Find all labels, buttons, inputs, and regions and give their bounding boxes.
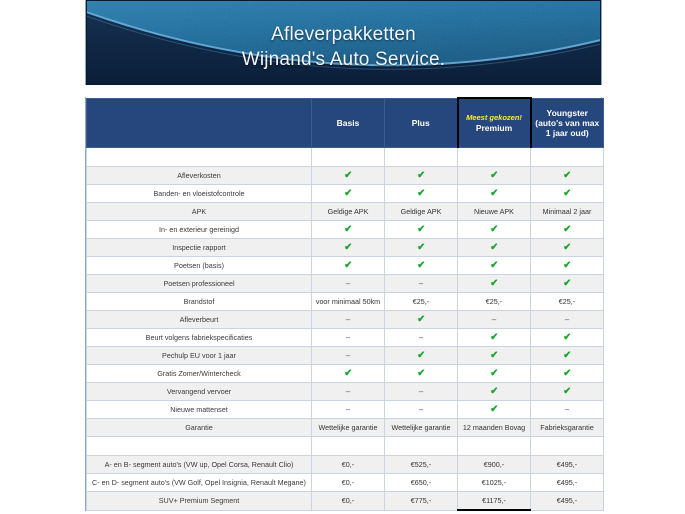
header-cell-youngster[interactable]: Youngster (auto's van max 1 jaar oud) — [531, 98, 604, 148]
row-cell: – — [312, 275, 385, 293]
check-icon: ✔ — [344, 189, 352, 199]
row-cell: €650,- — [385, 474, 458, 492]
cell-value: €1025,- — [482, 478, 506, 488]
header-cell-basis[interactable]: Basis — [312, 98, 385, 148]
row-label: Banden- en vloeistofcontrole — [87, 185, 312, 203]
cell-value: Nieuwe APK — [474, 207, 514, 217]
row-cell: Geldige APK — [312, 203, 385, 221]
row-cell: ✔ — [458, 185, 531, 203]
table-feature-row: Gratis Zomer/Wintercheck✔✔✔✔ — [87, 365, 604, 383]
check-icon: ✔ — [417, 189, 425, 199]
row-cell: €1025,- — [458, 474, 531, 492]
row-cell: ✔ — [312, 221, 385, 239]
cell-value: €25,- — [486, 297, 502, 307]
check-icon: ✔ — [563, 243, 571, 253]
row-cell: ✔ — [531, 347, 604, 365]
header-label-youngster: Youngster (auto's van max 1 jaar oud) — [534, 108, 602, 138]
cell-value: €495,- — [557, 478, 577, 488]
row-cell: ✔ — [312, 365, 385, 383]
row-label: Beurt volgens fabriekspecificaties — [87, 329, 312, 347]
check-icon: ✔ — [344, 243, 352, 253]
row-cell: ✔ — [458, 347, 531, 365]
check-icon: ✔ — [563, 189, 571, 199]
check-icon: ✔ — [563, 279, 571, 289]
check-icon: ✔ — [344, 225, 352, 235]
row-cell: – — [312, 383, 385, 401]
check-icon: ✔ — [344, 369, 352, 379]
page-banner: Afleverpakketten Wijnand's Auto Service. — [85, 0, 602, 85]
row-cell: voor minimaal 50km — [312, 293, 385, 311]
row-cell: ✔ — [458, 257, 531, 275]
row-cell: – — [385, 329, 458, 347]
header-cell-plus[interactable]: Plus — [385, 98, 458, 148]
check-icon: ✔ — [563, 261, 571, 271]
row-cell: €900,- — [458, 456, 531, 474]
cell-value: €25,- — [559, 297, 575, 307]
table-feature-row: In- en exterieur gereinigd✔✔✔✔ — [87, 221, 604, 239]
dash-icon: – — [346, 279, 350, 289]
cell-value: 12 maanden Bovag — [463, 423, 525, 433]
row-cell: €1175,- — [458, 492, 531, 511]
check-icon: ✔ — [563, 387, 571, 397]
dash-icon: – — [346, 333, 350, 343]
row-cell: €0,- — [312, 492, 385, 511]
row-cell: ✔ — [458, 365, 531, 383]
table-feature-row: Inspectie rapport✔✔✔✔ — [87, 239, 604, 257]
row-cell — [458, 437, 531, 456]
row-cell — [312, 148, 385, 167]
row-cell: Nieuwe APK — [458, 203, 531, 221]
check-icon: ✔ — [563, 351, 571, 361]
check-icon: ✔ — [417, 261, 425, 271]
row-cell: 12 maanden Bovag — [458, 419, 531, 437]
check-icon: ✔ — [490, 225, 498, 235]
row-cell: – — [312, 311, 385, 329]
cell-value: €25,- — [413, 297, 429, 307]
row-cell: ✔ — [531, 365, 604, 383]
most-chosen-badge: Meest gekozen! — [461, 113, 528, 122]
row-label: SUV+ Premium Segment — [87, 492, 312, 511]
row-label: Poetsen (basis) — [87, 257, 312, 275]
table-price-row: A- en B- segment auto's (VW up, Opel Cor… — [87, 456, 604, 474]
table-spacer-row — [87, 437, 604, 456]
table-feature-row: Poetsen (basis)✔✔✔✔ — [87, 257, 604, 275]
table-feature-row: Beurt volgens fabriekspecificaties––✔✔ — [87, 329, 604, 347]
row-cell: Wettelijke garantie — [385, 419, 458, 437]
check-icon: ✔ — [490, 279, 498, 289]
table-feature-row: Nieuwe mattenset––✔– — [87, 401, 604, 419]
row-cell: – — [531, 401, 604, 419]
row-cell: ✔ — [531, 257, 604, 275]
check-icon: ✔ — [490, 351, 498, 361]
cell-value: €775,- — [411, 496, 431, 506]
row-cell: €25,- — [458, 293, 531, 311]
table-feature-row: APKGeldige APKGeldige APKNieuwe APKMinim… — [87, 203, 604, 221]
table-spacer-row — [87, 148, 604, 167]
row-cell: €25,- — [531, 293, 604, 311]
table-feature-row: Afleverbeurt–✔–– — [87, 311, 604, 329]
row-label: Afleverkosten — [87, 167, 312, 185]
row-cell: ✔ — [458, 383, 531, 401]
row-cell — [312, 437, 385, 456]
check-icon: ✔ — [563, 171, 571, 181]
check-icon: ✔ — [490, 261, 498, 271]
cell-value: €495,- — [557, 496, 577, 506]
check-icon: ✔ — [417, 369, 425, 379]
cell-value: €650,- — [411, 478, 431, 488]
check-icon: ✔ — [417, 171, 425, 181]
row-label: Gratis Zomer/Wintercheck — [87, 365, 312, 383]
dash-icon: – — [346, 315, 350, 325]
cell-value: Geldige APK — [401, 207, 442, 217]
row-cell: – — [385, 401, 458, 419]
row-cell: €0,- — [312, 456, 385, 474]
row-cell: – — [531, 311, 604, 329]
table-feature-row: Afleverkosten✔✔✔✔ — [87, 167, 604, 185]
dash-icon: – — [346, 387, 350, 397]
check-icon: ✔ — [490, 333, 498, 343]
cell-value: €525,- — [411, 460, 431, 470]
row-cell: ✔ — [385, 365, 458, 383]
row-cell — [458, 148, 531, 167]
row-cell: – — [312, 329, 385, 347]
dash-icon: – — [419, 333, 423, 343]
row-label: Garantie — [87, 419, 312, 437]
table-body: Afleverkosten✔✔✔✔Banden- en vloeistofcon… — [87, 148, 604, 511]
cell-value: Wettelijke garantie — [319, 423, 378, 433]
check-icon: ✔ — [490, 189, 498, 199]
cell-value: €495,- — [557, 460, 577, 470]
row-cell: ✔ — [385, 185, 458, 203]
row-cell: ✔ — [458, 239, 531, 257]
table-feature-row: Vervangend vervoer––✔✔ — [87, 383, 604, 401]
dash-icon: – — [419, 405, 423, 415]
cell-value: €0,- — [342, 496, 354, 506]
check-icon: ✔ — [417, 351, 425, 361]
check-icon: ✔ — [344, 261, 352, 271]
table-feature-row: GarantieWettelijke garantieWettelijke ga… — [87, 419, 604, 437]
table-feature-row: Banden- en vloeistofcontrole✔✔✔✔ — [87, 185, 604, 203]
row-cell: – — [385, 275, 458, 293]
row-cell: ✔ — [312, 239, 385, 257]
row-label: Vervangend vervoer — [87, 383, 312, 401]
row-cell — [531, 437, 604, 456]
row-label: C- en D- segment auto's (VW Golf, Opel I… — [87, 474, 312, 492]
header-label-premium: Premium — [461, 123, 528, 133]
row-cell: ✔ — [458, 329, 531, 347]
row-cell: ✔ — [385, 257, 458, 275]
banner-title-line1: Afleverpakketten — [86, 22, 601, 47]
row-cell: – — [312, 401, 385, 419]
row-label: Nieuwe mattenset — [87, 401, 312, 419]
row-cell — [531, 148, 604, 167]
row-cell: – — [458, 311, 531, 329]
row-cell: €775,- — [385, 492, 458, 511]
check-icon: ✔ — [563, 333, 571, 343]
table-header-row: Basis Plus Meest gekozen! Premium Youngs… — [87, 98, 604, 148]
check-icon: ✔ — [490, 387, 498, 397]
row-cell: ✔ — [458, 167, 531, 185]
check-icon: ✔ — [563, 225, 571, 235]
row-cell: ✔ — [312, 185, 385, 203]
row-label: Inspectie rapport — [87, 239, 312, 257]
dash-icon: – — [492, 315, 496, 325]
cell-value: Minimaal 2 jaar — [543, 207, 592, 217]
row-label: APK — [87, 203, 312, 221]
header-cell-premium[interactable]: Meest gekozen! Premium — [458, 98, 531, 148]
row-label: Pechulp EU voor 1 jaar — [87, 347, 312, 365]
row-cell: ✔ — [531, 239, 604, 257]
row-cell: €495,- — [531, 492, 604, 511]
row-cell: ✔ — [531, 383, 604, 401]
cell-value: €1175,- — [482, 496, 506, 506]
row-label: Afleverbeurt — [87, 311, 312, 329]
row-cell: – — [385, 383, 458, 401]
table-feature-row: Pechulp EU voor 1 jaar–✔✔✔ — [87, 347, 604, 365]
row-label — [87, 148, 312, 167]
row-cell — [385, 148, 458, 167]
check-icon: ✔ — [490, 243, 498, 253]
row-cell: ✔ — [458, 221, 531, 239]
row-cell: ✔ — [531, 329, 604, 347]
row-cell: €25,- — [385, 293, 458, 311]
row-cell: €495,- — [531, 474, 604, 492]
row-cell: ✔ — [312, 257, 385, 275]
row-cell: Fabrieksgarantie — [531, 419, 604, 437]
table-head: Basis Plus Meest gekozen! Premium Youngs… — [87, 98, 604, 148]
check-icon: ✔ — [344, 171, 352, 181]
dash-icon: – — [419, 279, 423, 289]
row-cell: €0,- — [312, 474, 385, 492]
check-icon: ✔ — [490, 405, 498, 415]
dash-icon: – — [346, 405, 350, 415]
cell-value: Fabrieksgarantie — [540, 423, 594, 433]
row-cell: ✔ — [385, 347, 458, 365]
check-icon: ✔ — [490, 369, 498, 379]
row-cell: – — [312, 347, 385, 365]
cell-value: €900,- — [484, 460, 504, 470]
dash-icon: – — [565, 315, 569, 325]
check-icon: ✔ — [563, 369, 571, 379]
comparison-table-container: Basis Plus Meest gekozen! Premium Youngs… — [85, 97, 602, 511]
banner-title-line2: Wijnand's Auto Service. — [86, 47, 601, 72]
table-price-row: C- en D- segment auto's (VW Golf, Opel I… — [87, 474, 604, 492]
dash-icon: – — [346, 351, 350, 361]
row-cell: ✔ — [312, 167, 385, 185]
dash-icon: – — [565, 405, 569, 415]
cell-value: Wettelijke garantie — [392, 423, 451, 433]
row-cell: ✔ — [531, 221, 604, 239]
check-icon: ✔ — [417, 225, 425, 235]
row-cell: ✔ — [531, 275, 604, 293]
check-icon: ✔ — [490, 171, 498, 181]
row-cell: €495,- — [531, 456, 604, 474]
table-price-row: SUV+ Premium Segment€0,-€775,-€1175,-€49… — [87, 492, 604, 511]
row-cell: ✔ — [385, 221, 458, 239]
check-icon: ✔ — [417, 315, 425, 325]
row-cell: ✔ — [385, 167, 458, 185]
cell-value: €0,- — [342, 460, 354, 470]
row-cell — [385, 437, 458, 456]
row-label: A- en B- segment auto's (VW up, Opel Cor… — [87, 456, 312, 474]
header-label-basis: Basis — [314, 118, 382, 128]
row-cell: ✔ — [385, 311, 458, 329]
row-cell: Minimaal 2 jaar — [531, 203, 604, 221]
row-label: In- en exterieur gereinigd — [87, 221, 312, 239]
cell-value: Geldige APK — [328, 207, 369, 217]
header-label-plus: Plus — [387, 118, 455, 128]
row-label: Brandstof — [87, 293, 312, 311]
row-cell: ✔ — [531, 167, 604, 185]
cell-value: €0,- — [342, 478, 354, 488]
table-feature-row: Poetsen professioneel––✔✔ — [87, 275, 604, 293]
banner-title-block: Afleverpakketten Wijnand's Auto Service. — [86, 22, 601, 72]
row-label: Poetsen professioneel — [87, 275, 312, 293]
dash-icon: – — [419, 387, 423, 397]
header-cell-label — [87, 98, 312, 148]
row-cell: ✔ — [458, 401, 531, 419]
row-cell: Wettelijke garantie — [312, 419, 385, 437]
row-label — [87, 437, 312, 456]
row-cell: ✔ — [531, 185, 604, 203]
table-feature-row: Brandstofvoor minimaal 50km€25,-€25,-€25… — [87, 293, 604, 311]
row-cell: Geldige APK — [385, 203, 458, 221]
cell-value: voor minimaal 50km — [316, 297, 380, 307]
row-cell: ✔ — [385, 239, 458, 257]
row-cell: €525,- — [385, 456, 458, 474]
check-icon: ✔ — [417, 243, 425, 253]
package-comparison-table: Basis Plus Meest gekozen! Premium Youngs… — [86, 97, 604, 511]
page-root: Afleverpakketten Wijnand's Auto Service.… — [0, 0, 685, 514]
row-cell: ✔ — [458, 275, 531, 293]
